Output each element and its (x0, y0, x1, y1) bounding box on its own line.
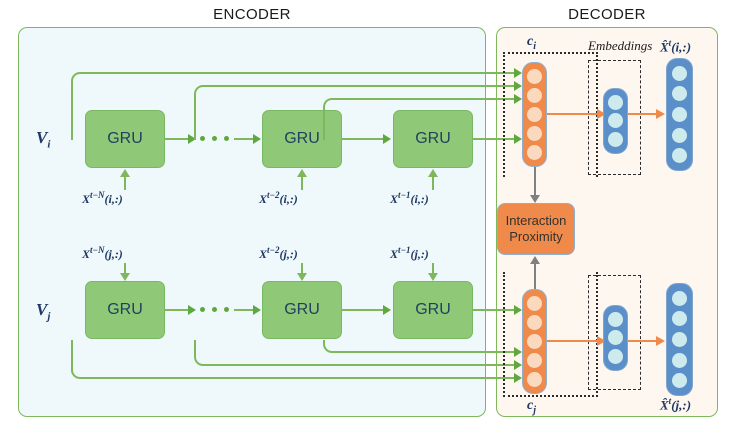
output-vector-top (666, 58, 693, 171)
context-cell (527, 315, 542, 330)
gru-j-3: GRU (393, 281, 473, 339)
ellipsis-dot (212, 136, 217, 141)
output-cell (672, 373, 687, 388)
output-label-top: X̂t(i,:) (660, 38, 691, 55)
encoder-section-title: ENCODER (18, 6, 486, 23)
output-cell (672, 128, 687, 143)
ellipsis-dot (224, 307, 229, 312)
output-cell (672, 311, 687, 326)
context-cell (527, 88, 542, 103)
gru-i-1: GRU (85, 110, 165, 168)
input-label-i-2: Xt−2(i,:) (259, 190, 298, 207)
output-cell (672, 332, 687, 347)
interaction-proximity-box: Interaction Proximity (497, 203, 575, 255)
embedding-cell (608, 132, 623, 147)
context-region-bottom (503, 272, 598, 397)
input-label-i-3: Xt−1(i,:) (390, 190, 429, 207)
input-label-i-1: Xt−N(i,:) (82, 190, 123, 207)
output-cell (672, 291, 687, 306)
interaction-proximity-line2: Proximity (509, 229, 562, 245)
context-cell (527, 145, 542, 160)
input-label-j-3: Xt−1(j,:) (390, 245, 429, 262)
grey-arrow-icon (530, 195, 540, 203)
embedding-cell (608, 330, 623, 345)
orange-arrow-icon (656, 109, 665, 119)
context-label-ci: ci (527, 34, 536, 52)
embedding-vector-bottom (603, 305, 628, 371)
context-cell (527, 296, 542, 311)
context-cell (527, 69, 542, 84)
feedback-route-i-1 (71, 72, 83, 112)
grey-arrow-icon (530, 256, 540, 264)
output-label-bottom: X̂t(j,:) (660, 396, 691, 413)
output-cell (672, 107, 687, 122)
output-vector-bottom (666, 283, 693, 396)
feedback-route-j-2 (194, 340, 206, 366)
decoder-section-title: DECODER (496, 6, 718, 23)
output-cell (672, 353, 687, 368)
ellipsis-dot (224, 136, 229, 141)
input-label-j-2: Xt−2(j,:) (259, 245, 298, 262)
node-label-vi: Vi (36, 128, 50, 150)
feedback-route-j-1 (71, 340, 83, 379)
embedding-cell (608, 113, 623, 128)
node-label-vj: Vj (36, 300, 50, 322)
output-cell (672, 148, 687, 163)
ellipsis-dot (200, 307, 205, 312)
context-cell (527, 107, 542, 122)
gru-j-1: GRU (85, 281, 165, 339)
embedding-cell (608, 95, 623, 110)
gru-j-2: GRU (262, 281, 342, 339)
output-cell (672, 86, 687, 101)
context-cell (527, 334, 542, 349)
embeddings-caption-top: Embeddings (588, 38, 652, 54)
orange-arrow-icon (656, 336, 665, 346)
embedding-vector-top (603, 88, 628, 154)
input-label-j-1: Xt−N(j,:) (82, 245, 123, 262)
gru-i-3: GRU (393, 110, 473, 168)
context-cell (527, 353, 542, 368)
context-cell (527, 126, 542, 141)
embedding-cell (608, 349, 623, 364)
context-vector-cj (522, 289, 547, 394)
interaction-proximity-line1: Interaction (506, 213, 567, 229)
output-cell (672, 66, 687, 81)
ellipsis-dot (200, 136, 205, 141)
gru-i-2: GRU (262, 110, 342, 168)
ellipsis-dot (212, 307, 217, 312)
context-cell (527, 372, 542, 387)
architecture-diagram: ENCODER DECODER Vi GRU GRU GRU Xt−N(i,:)… (0, 0, 735, 433)
context-label-cj: cj (527, 398, 536, 416)
context-vector-ci (522, 62, 547, 167)
embedding-cell (608, 312, 623, 327)
